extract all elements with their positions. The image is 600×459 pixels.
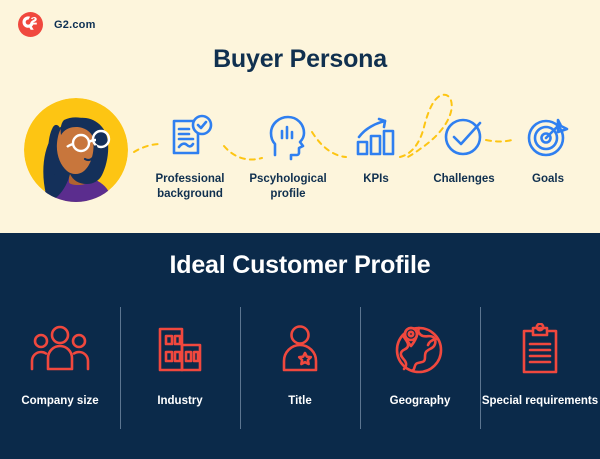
persona-item-professional-background: Professional background	[141, 108, 239, 201]
ideal-customer-profile-title: Ideal Customer Profile	[0, 251, 600, 280]
brand-name: G2.com	[54, 19, 96, 31]
icp-item-geography: Geography	[360, 307, 480, 429]
persona-item-psychological-profile: Pscyhological profile	[240, 108, 336, 201]
clipboard-list-icon	[515, 317, 565, 383]
document-check-icon	[141, 108, 239, 166]
persona-item-kpis: KPIs	[338, 108, 414, 187]
head-profile-chart-icon	[240, 108, 336, 166]
persona-item-label: KPIs	[338, 172, 414, 187]
icp-item-label: Special requirements	[482, 394, 598, 409]
persona-item-goals: Goals	[510, 108, 586, 187]
persona-item-label: Professional background	[141, 172, 239, 201]
globe-pin-icon	[391, 317, 449, 383]
icp-item-label: Geography	[390, 394, 451, 409]
icp-item-title: Title	[240, 307, 360, 429]
buildings-icon	[151, 317, 209, 383]
icp-item-label: Industry	[157, 394, 202, 409]
persona-item-challenges: Challenges	[416, 108, 512, 187]
icp-items-row: Company size Industry	[0, 307, 600, 429]
icp-item-special-requirements: Special requirements	[480, 307, 600, 429]
persona-avatar-illustration	[24, 98, 128, 202]
brand: G2.com	[18, 12, 96, 37]
icp-item-label: Title	[288, 394, 311, 409]
person-star-badge-icon	[276, 317, 324, 383]
people-group-icon	[29, 317, 91, 383]
persona-item-label: Challenges	[416, 172, 512, 187]
persona-item-label: Pscyhological profile	[240, 172, 336, 201]
icp-item-industry: Industry	[120, 307, 240, 429]
buyer-persona-section: G2.com Buyer Persona	[0, 0, 600, 233]
check-circle-icon	[416, 108, 512, 166]
bar-chart-arrow-icon	[338, 108, 414, 166]
infographic-canvas: G2.com Buyer Persona	[0, 0, 600, 459]
icp-item-label: Company size	[21, 394, 98, 409]
persona-item-label: Goals	[510, 172, 586, 187]
icp-item-company-size: Company size	[0, 307, 120, 429]
buyer-persona-title: Buyer Persona	[0, 45, 600, 74]
target-arrow-icon	[510, 108, 586, 166]
g2-logo-icon	[18, 12, 43, 37]
